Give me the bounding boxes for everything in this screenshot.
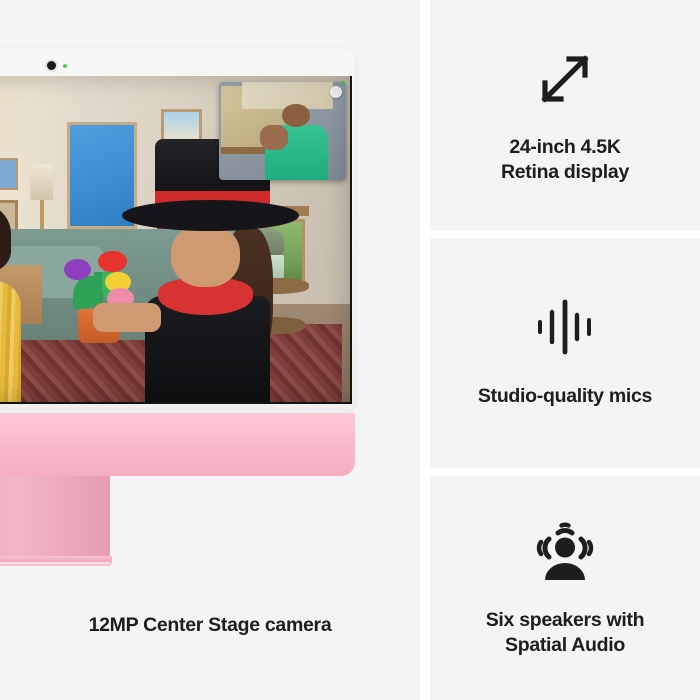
feature-panel-column: 24-inch 4.5K Retina display Studio-quali… bbox=[430, 0, 700, 700]
scene-woman bbox=[0, 200, 38, 402]
camera-indicator-led-icon bbox=[63, 64, 67, 68]
facetime-scene bbox=[0, 76, 350, 402]
feature-label-mics: Studio-quality mics bbox=[478, 384, 652, 409]
scene-child-arm bbox=[93, 303, 162, 331]
imac-stand-foot-highlight bbox=[0, 562, 110, 566]
scene-flower-purple bbox=[64, 259, 91, 281]
feature-label-spatial-audio: Six speakers with Spatial Audio bbox=[486, 608, 645, 659]
scene-small-artwork-1 bbox=[0, 158, 18, 191]
feature-panel-mics[interactable]: Studio-quality mics bbox=[430, 238, 700, 468]
scene-child-face bbox=[171, 224, 240, 287]
scene-woman-hair bbox=[0, 200, 11, 273]
person-spatial-audio-icon bbox=[531, 518, 599, 586]
facetime-pip-window[interactable] bbox=[219, 82, 346, 180]
imac-product-image bbox=[0, 48, 355, 458]
waveform-mic-icon bbox=[534, 296, 596, 358]
camera-feature-caption: 12MP Center Stage camera bbox=[0, 614, 420, 637]
imac-chin bbox=[0, 413, 355, 476]
scene-floor-lamp-shade bbox=[30, 164, 53, 200]
imac-stand-neck bbox=[0, 476, 110, 561]
screen-recording-led-icon bbox=[341, 81, 345, 85]
scene-woman-shirt bbox=[0, 281, 21, 402]
feature-label-display: 24-inch 4.5K Retina display bbox=[501, 135, 629, 186]
camera-dot-icon bbox=[47, 61, 56, 70]
camera-feature-panel: 12MP Center Stage camera bbox=[0, 0, 420, 700]
pip-close-button[interactable] bbox=[330, 86, 342, 98]
imac-screen bbox=[0, 76, 352, 404]
scene-child-top-hat-brim bbox=[122, 200, 299, 231]
feature-panel-spatial-audio[interactable]: Six speakers with Spatial Audio bbox=[430, 476, 700, 700]
product-feature-page: 12MP Center Stage camera 24-inch 4.5K Re… bbox=[0, 0, 700, 700]
feature-panel-display[interactable]: 24-inch 4.5K Retina display bbox=[430, 0, 700, 230]
diagonal-arrows-expand-icon bbox=[531, 45, 599, 113]
pip-person-head bbox=[282, 104, 310, 127]
scene-child-magician bbox=[129, 167, 293, 402]
pip-person-hands bbox=[260, 125, 288, 150]
scene-flower-red bbox=[98, 251, 127, 273]
